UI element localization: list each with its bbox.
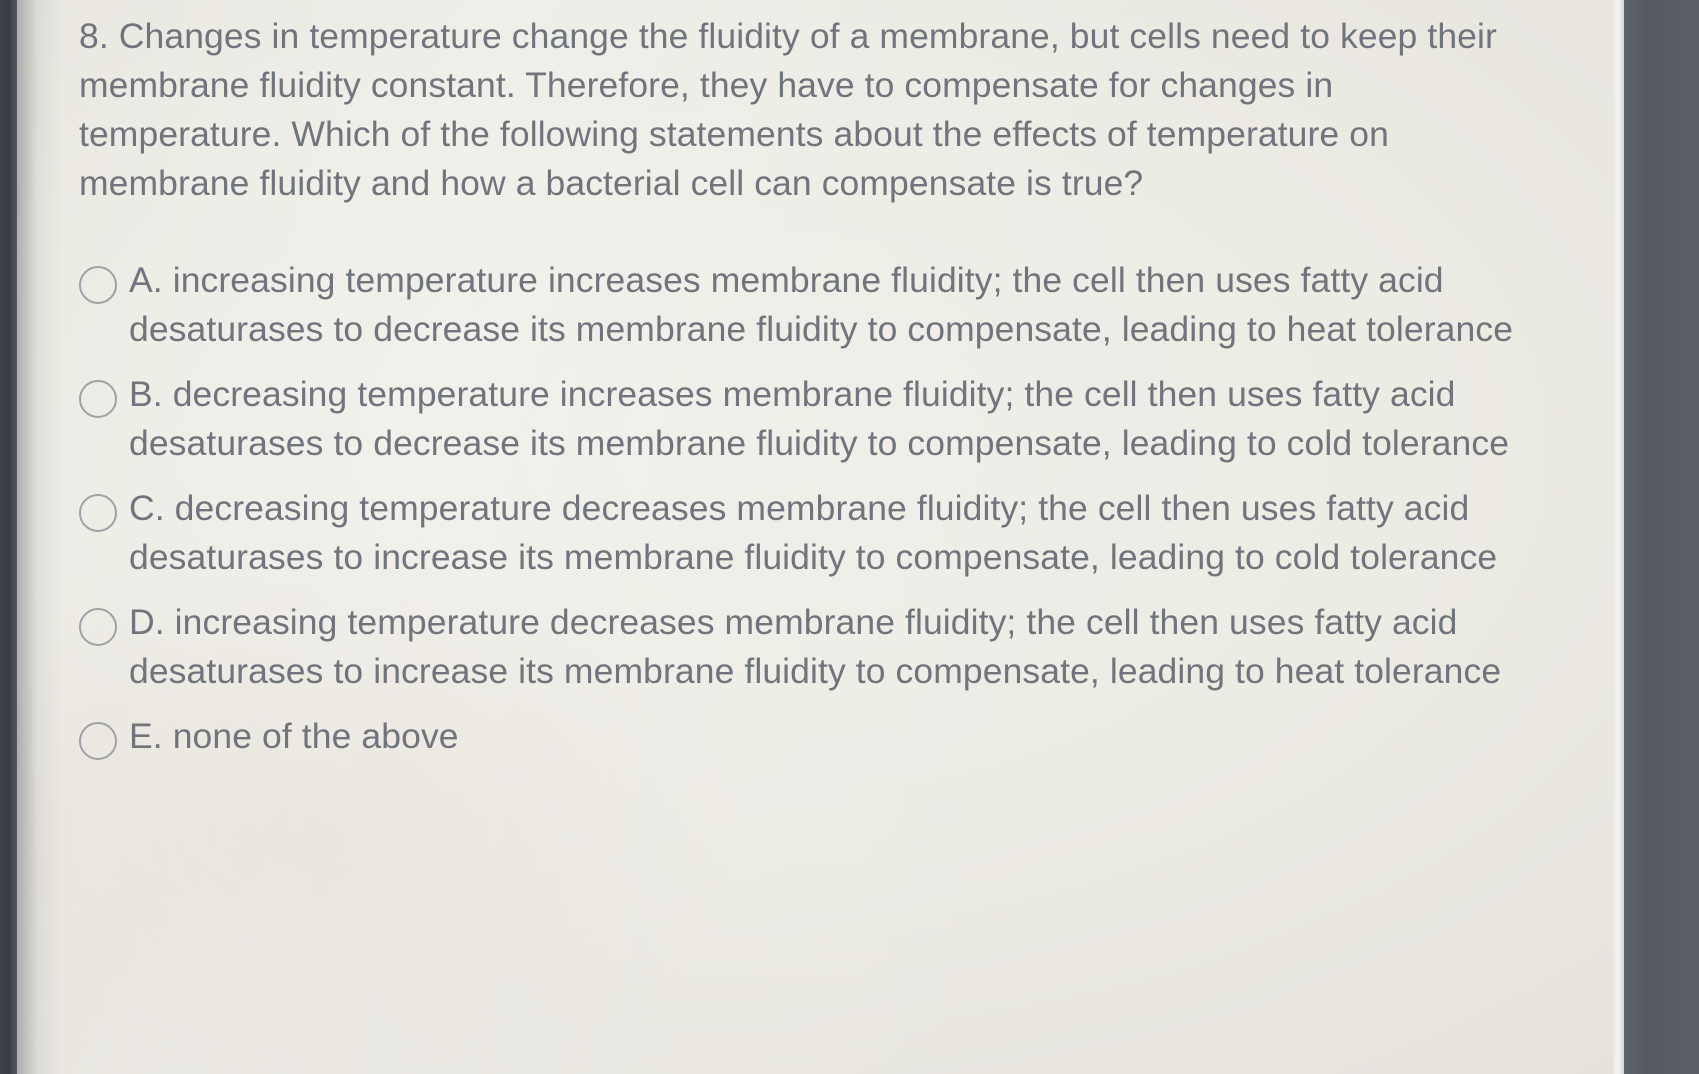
radio-button-icon-e[interactable]: [79, 722, 117, 760]
question-page-surface: 8. Changes in temperature change the flu…: [17, 0, 1617, 1074]
right-bezel: [1624, 0, 1699, 1074]
left-bezel: [0, 0, 17, 1074]
answer-option-d[interactable]: D. increasing temperature decreases memb…: [17, 596, 1617, 696]
question-content: 8. Changes in temperature change the flu…: [17, 0, 1617, 767]
question-stem: 8. Changes in temperature change the flu…: [17, 12, 1617, 208]
answer-option-b-label: B. decreasing temperature increases memb…: [129, 368, 1517, 468]
photographed-screen-frame: 8. Changes in temperature change the flu…: [0, 0, 1699, 1074]
radio-button-icon-c[interactable]: [79, 494, 117, 532]
answer-option-e[interactable]: E. none of the above: [17, 710, 1617, 761]
answer-option-c-label: C. decreasing temperature decreases memb…: [129, 482, 1517, 582]
answer-option-e-label: E. none of the above: [129, 710, 459, 761]
radio-button-icon-b[interactable]: [79, 380, 117, 418]
radio-button-icon-d[interactable]: [79, 608, 117, 646]
answer-option-b[interactable]: B. decreasing temperature increases memb…: [17, 368, 1617, 468]
answer-option-d-label: D. increasing temperature decreases memb…: [129, 596, 1517, 696]
answer-option-c[interactable]: C. decreasing temperature decreases memb…: [17, 482, 1617, 582]
radio-button-icon-a[interactable]: [79, 266, 117, 304]
answer-options-list: A. increasing temperature increases memb…: [17, 254, 1617, 761]
answer-option-a-label: A. increasing temperature increases memb…: [129, 254, 1517, 354]
answer-option-a[interactable]: A. increasing temperature increases memb…: [17, 254, 1617, 354]
